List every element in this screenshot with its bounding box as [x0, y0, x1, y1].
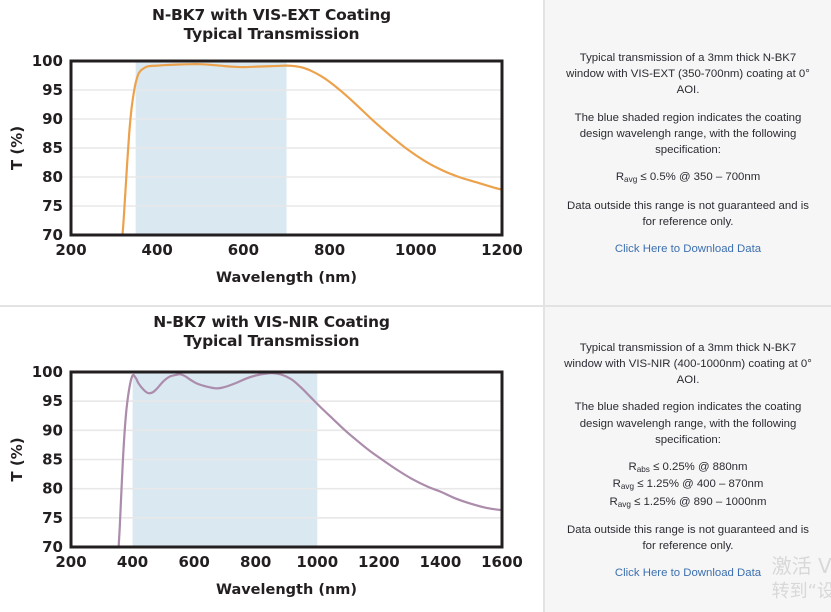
chart-plot-vis-nir: 7075808590951002004006008001000120014001… — [0, 357, 545, 612]
spec-line: Rabs ≤ 0.25% @ 880nm — [557, 459, 819, 476]
x-axis-tick-label: 1000 — [296, 553, 338, 571]
chart-title-vis-nir: N-BK7 with VIS-NIR Coating Typical Trans… — [0, 307, 543, 352]
info-disclaimer-vis-nir: Data outside this range is not guarantee… — [557, 522, 819, 554]
info-shaded-note-vis-nir: The blue shaded region indicates the coa… — [557, 399, 819, 448]
y-axis-tick-label: 90 — [42, 421, 63, 439]
x-axis-tick-label: 400 — [117, 553, 148, 571]
chart-cell-vis-nir: N-BK7 with VIS-NIR Coating Typical Trans… — [0, 307, 545, 612]
transmission-curves-page: N-BK7 with VIS-EXT Coating Typical Trans… — [0, 0, 831, 612]
spec-text: ≤ 0.25% @ 880nm — [650, 461, 748, 473]
x-axis-tick-label: 1600 — [481, 553, 523, 571]
spec-symbol: R — [609, 496, 617, 508]
spec-symbol: R — [628, 461, 636, 473]
y-axis-tick-label: 90 — [42, 110, 63, 128]
info-specs-vis-nir: Rabs ≤ 0.25% @ 880nmRavg ≤ 1.25% @ 400 –… — [557, 459, 819, 511]
x-axis-tick-label: 1400 — [420, 553, 462, 571]
x-axis-tick-label: 600 — [178, 553, 209, 571]
y-axis-tick-label: 80 — [42, 168, 63, 186]
spec-line: Ravg ≤ 0.5% @ 350 – 700nm — [557, 169, 819, 186]
info-panel-vis-nir: Typical transmission of a 3mm thick N-BK… — [545, 307, 831, 612]
y-axis-tick-label: 75 — [42, 509, 63, 527]
spec-symbol: R — [616, 171, 624, 183]
spec-subscript: avg — [618, 500, 631, 509]
download-data-link-vis-nir[interactable]: Click Here to Download Data — [557, 567, 819, 579]
download-data-link-vis-ext[interactable]: Click Here to Download Data — [557, 243, 819, 255]
x-axis-tick-label: 1200 — [481, 241, 523, 259]
y-axis-title: T (%) — [8, 126, 26, 170]
info-description-vis-ext: Typical transmission of a 3mm thick N-BK… — [557, 50, 819, 99]
chart-plot-vis-ext: 70758085909510020040060080010001200T (%)… — [0, 50, 545, 302]
x-axis-tick-label: 800 — [240, 553, 271, 571]
y-axis-tick-label: 100 — [32, 363, 63, 381]
info-description-vis-nir: Typical transmission of a 3mm thick N-BK… — [557, 340, 819, 389]
x-axis-tick-label: 400 — [142, 241, 173, 259]
panel-row-vis-nir: N-BK7 with VIS-NIR Coating Typical Trans… — [0, 305, 831, 612]
info-specs-vis-ext: Ravg ≤ 0.5% @ 350 – 700nm — [557, 169, 819, 186]
spec-subscript: abs — [637, 465, 650, 474]
info-panel-vis-ext: Typical transmission of a 3mm thick N-BK… — [545, 0, 831, 305]
x-axis-title: Wavelength (nm) — [216, 582, 357, 598]
chart-title-line1: N-BK7 with VIS-NIR Coating — [153, 313, 389, 331]
y-axis-tick-label: 85 — [42, 139, 63, 157]
y-axis-tick-label: 85 — [42, 451, 63, 469]
y-axis-tick-label: 75 — [42, 197, 63, 215]
spec-text: ≤ 0.5% @ 350 – 700nm — [637, 171, 760, 183]
spec-subscript: avg — [624, 175, 637, 184]
spec-line: Ravg ≤ 1.25% @ 400 – 870nm — [557, 476, 819, 493]
panel-row-vis-ext: N-BK7 with VIS-EXT Coating Typical Trans… — [0, 0, 831, 305]
x-axis-tick-label: 1200 — [358, 553, 400, 571]
chart-title-line1: N-BK7 with VIS-EXT Coating — [152, 6, 391, 24]
spec-text: ≤ 1.25% @ 400 – 870nm — [634, 478, 763, 490]
spec-symbol: R — [613, 478, 621, 490]
y-axis-title: T (%) — [8, 437, 26, 481]
y-axis-tick-label: 95 — [42, 81, 63, 99]
x-axis-tick-label: 200 — [55, 553, 86, 571]
chart-title-vis-ext: N-BK7 with VIS-EXT Coating Typical Trans… — [0, 0, 543, 45]
chart-title-line2: Typical Transmission — [0, 25, 543, 44]
y-axis-tick-label: 100 — [32, 52, 63, 70]
watermark-line2: 转到“设 — [772, 580, 831, 604]
x-axis-title: Wavelength (nm) — [216, 270, 357, 286]
x-axis-tick-label: 200 — [55, 241, 86, 259]
info-disclaimer-vis-ext: Data outside this range is not guarantee… — [557, 198, 819, 230]
info-shaded-note-vis-ext: The blue shaded region indicates the coa… — [557, 110, 819, 159]
chart-title-line2: Typical Transmission — [0, 332, 543, 351]
x-axis-tick-label: 600 — [228, 241, 259, 259]
spec-text: ≤ 1.25% @ 890 – 1000nm — [631, 496, 767, 508]
spec-subscript: avg — [621, 482, 634, 491]
y-axis-tick-label: 80 — [42, 480, 63, 498]
x-axis-tick-label: 1000 — [395, 241, 437, 259]
spec-line: Ravg ≤ 1.25% @ 890 – 1000nm — [557, 494, 819, 511]
x-axis-tick-label: 800 — [314, 241, 345, 259]
chart-cell-vis-ext: N-BK7 with VIS-EXT Coating Typical Trans… — [0, 0, 545, 305]
y-axis-tick-label: 95 — [42, 392, 63, 410]
